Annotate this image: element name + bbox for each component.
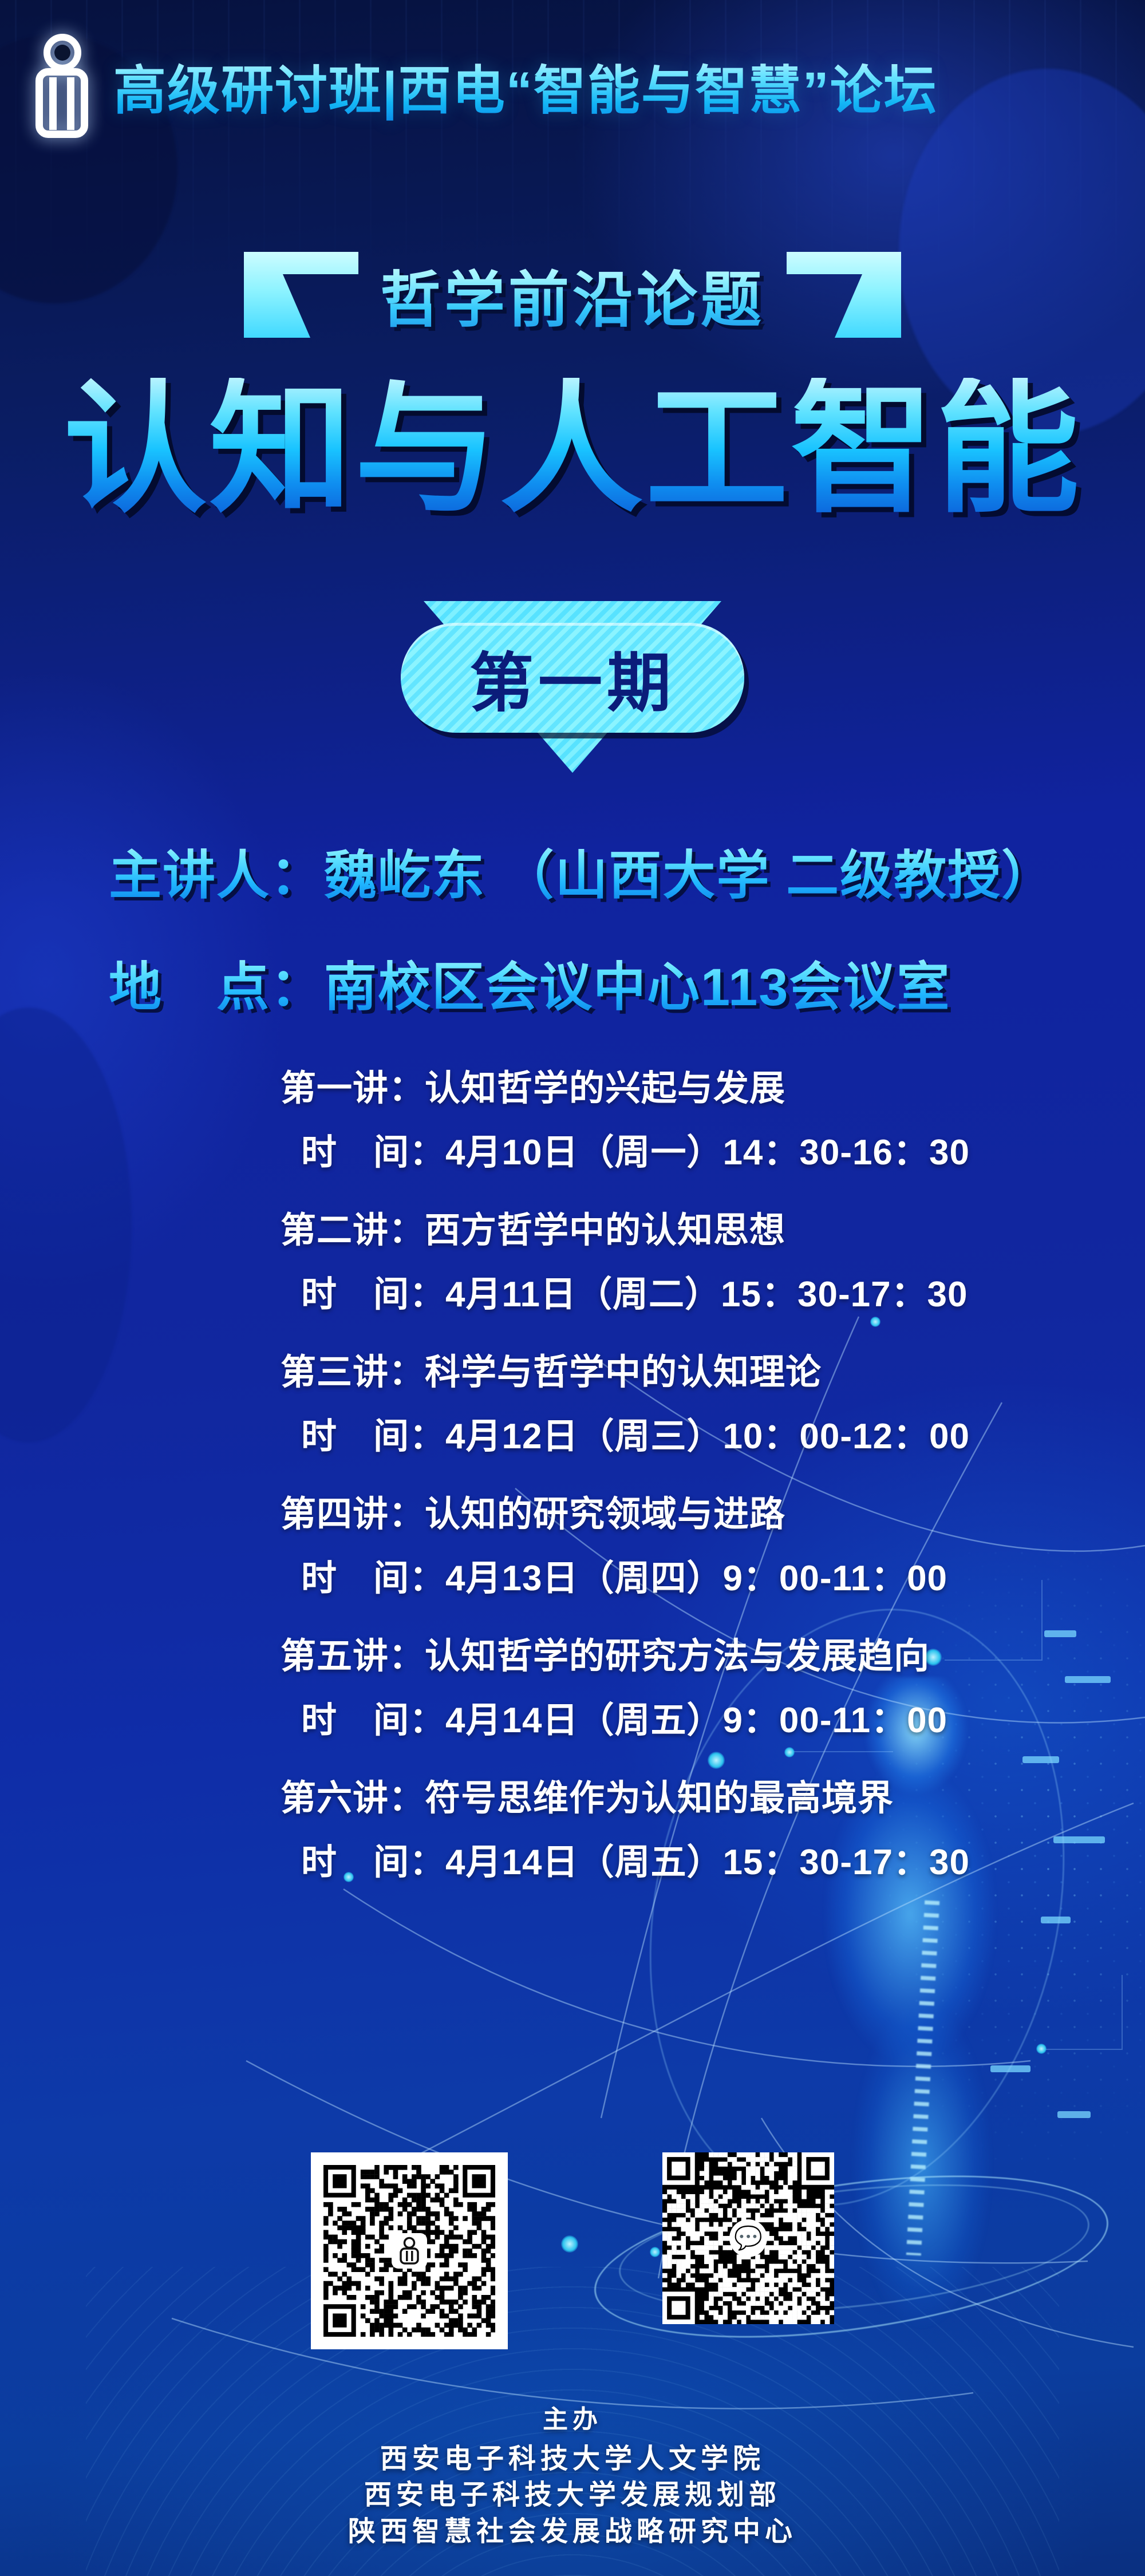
xidian-pillar-logo-icon — [35, 34, 88, 138]
lecture-schedule-list: 第一讲：认知哲学的兴起与发展时 间：4月10日（周一）14：30-16：30第二… — [281, 1059, 1053, 1884]
edition-badge-wrap: 第一期 — [0, 595, 1145, 790]
venue-line: 地 点：南校区会议中心113会议室 — [109, 945, 1082, 1021]
organizer-name: 陕西智慧社会发展战略研究中心 — [0, 2514, 1145, 2550]
edition-badge: 第一期 — [401, 623, 744, 733]
speaker-line: 主讲人：魏屹东 （山西大学 二级教授） — [109, 833, 1082, 909]
lecture-time: 时 间：4月13日（周四）9：00-11：00 — [301, 1549, 1053, 1601]
lecture-title: 第三讲：科学与哲学中的认知理论 — [281, 1343, 1053, 1394]
lecture-item: 第三讲：科学与哲学中的认知理论时 间：4月12日（周三）10：00-12：00 — [281, 1343, 1053, 1459]
qr-code-xidian[interactable] — [311, 2152, 508, 2349]
edition-badge-label: 第一期 — [469, 631, 676, 724]
lecture-item: 第五讲：认知哲学的研究方法与发展趋向时 间：4月14日（周五）9：00-11：0… — [281, 1627, 1053, 1743]
organizer-name: 西安电子科技大学发展规划部 — [0, 2477, 1145, 2513]
lecture-title: 第一讲：认知哲学的兴起与发展 — [281, 1059, 1053, 1111]
chevron-right-decoration — [787, 252, 901, 338]
lecture-title: 第五讲：认知哲学的研究方法与发展趋向 — [281, 1627, 1053, 1678]
lecture-item: 第四讲：认知的研究领域与进路时 间：4月13日（周四）9：00-11：00 — [281, 1485, 1053, 1601]
lecture-item: 第一讲：认知哲学的兴起与发展时 间：4月10日（周一）14：30-16：30 — [281, 1059, 1053, 1175]
organizer-list: 西安电子科技大学人文学院西安电子科技大学发展规划部陕西智慧社会发展战略研究中心 — [0, 2441, 1145, 2550]
xidian-pillar-logo-icon — [392, 2233, 427, 2269]
page-title: 认知与人工智能 — [0, 378, 1145, 521]
lecture-title: 第四讲：认知的研究领域与进路 — [281, 1485, 1053, 1536]
poster-header: 高级研讨班|西电“智能与智慧”论坛 — [0, 0, 1145, 172]
xidian-pillar-mark — [397, 2237, 422, 2265]
header-title: 高级研讨班|西电“智能与智慧”论坛 — [113, 48, 938, 124]
lecture-time: 时 间：4月14日（周五）9：00-11：00 — [301, 1691, 1053, 1743]
lecture-time: 时 间：4月12日（周三）10：00-12：00 — [301, 1407, 1053, 1459]
poster-footer: 主办 西安电子科技大学人文学院西安电子科技大学发展规划部陕西智慧社会发展战略研究… — [0, 2399, 1145, 2550]
lecture-time: 时 间：4月11日（周二）15：30-17：30 — [301, 1265, 1053, 1317]
organizer-label: 主办 — [0, 2399, 1145, 2435]
subtitle-row: 哲学前沿论题 — [0, 229, 1145, 361]
poster-canvas: 高级研讨班|西电“智能与智慧”论坛 哲学前沿论题 认知与人工智能 第一期 主讲人… — [0, 0, 1145, 2576]
qr-code-row: 💬 — [0, 2152, 1145, 2349]
qr-code-wechat[interactable]: 💬 — [662, 2152, 834, 2324]
organizer-name: 西安电子科技大学人文学院 — [0, 2441, 1145, 2477]
wechat-icon-icon: 💬 — [729, 2219, 767, 2257]
lecture-time: 时 间：4月14日（周五）15：30-17：30 — [301, 1833, 1053, 1884]
series-subtitle: 哲学前沿论题 — [380, 251, 765, 339]
lecture-item: 第二讲：西方哲学中的认知思想时 间：4月11日（周二）15：30-17：30 — [281, 1201, 1053, 1317]
lecture-title: 第二讲：西方哲学中的认知思想 — [281, 1201, 1053, 1253]
lecture-time: 时 间：4月10日（周一）14：30-16：30 — [301, 1123, 1053, 1175]
wechat-glyph: 💬 — [734, 2227, 763, 2250]
lecture-title: 第六讲：符号思维作为认知的最高境界 — [281, 1769, 1053, 1820]
chevron-left-decoration — [244, 252, 358, 338]
lecture-item: 第六讲：符号思维作为认知的最高境界时 间：4月14日（周五）15：30-17：3… — [281, 1769, 1053, 1884]
